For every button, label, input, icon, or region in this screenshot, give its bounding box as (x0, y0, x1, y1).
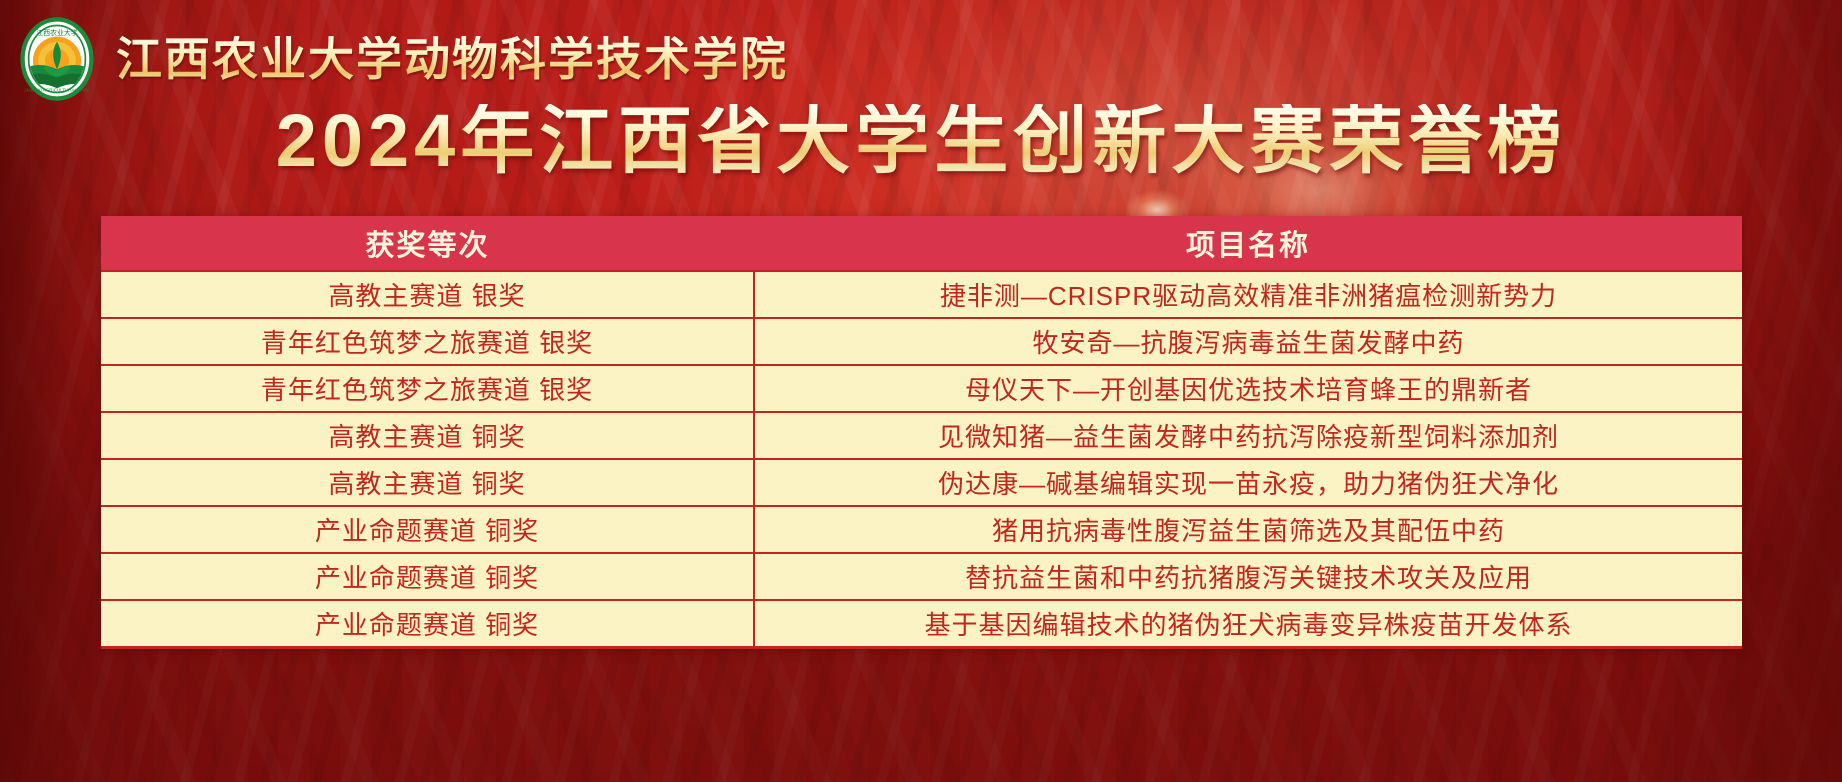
cell-project-name: 伪达康—碱基编辑实现一苗永疫，助力猪伪狂犬净化 (754, 459, 1742, 506)
cell-award-level: 高教主赛道 铜奖 (101, 459, 754, 506)
cell-award-level: 产业命题赛道 铜奖 (101, 553, 754, 600)
cell-project-name: 捷非测—CRISPR驱动高效精准非洲猪瘟检测新势力 (754, 271, 1742, 318)
cell-award-level: 青年红色筑梦之旅赛道 银奖 (101, 318, 754, 365)
cell-project-name: 见微知猪—益生菌发酵中药抗泻除疫新型饲料添加剂 (754, 412, 1742, 459)
honor-table-body: 高教主赛道 银奖捷非测—CRISPR驱动高效精准非洲猪瘟检测新势力青年红色筑梦之… (101, 271, 1742, 648)
column-header-project: 项目名称 (754, 216, 1742, 271)
cell-project-name: 牧安奇—抗腹泻病毒益生菌发酵中药 (754, 318, 1742, 365)
table-row: 产业命题赛道 铜奖替抗益生菌和中药抗猪腹泻关键技术攻关及应用 (101, 553, 1742, 600)
table-row: 青年红色筑梦之旅赛道 银奖牧安奇—抗腹泻病毒益生菌发酵中药 (101, 318, 1742, 365)
table-row: 产业命题赛道 铜奖基于基因编辑技术的猪伪狂犬病毒变异株疫苗开发体系 (101, 600, 1742, 648)
svg-text:江西农业大学: 江西农业大学 (36, 28, 77, 37)
honor-table-container: 获奖等次 项目名称 高教主赛道 银奖捷非测—CRISPR驱动高效精准非洲猪瘟检测… (101, 216, 1742, 649)
honor-roll-poster: 江西农业大学 JIANGXI AGRICULTURAL UNIV. 江西农业大学… (0, 0, 1842, 782)
college-name: 江西农业大学动物科学技术学院 (116, 36, 788, 82)
cell-award-level: 高教主赛道 铜奖 (101, 412, 754, 459)
cell-award-level: 产业命题赛道 铜奖 (101, 506, 754, 553)
column-header-award: 获奖等次 (101, 216, 754, 271)
table-header-row: 获奖等次 项目名称 (101, 216, 1742, 271)
honor-table: 获奖等次 项目名称 高教主赛道 银奖捷非测—CRISPR驱动高效精准非洲猪瘟检测… (101, 216, 1742, 649)
cell-award-level: 青年红色筑梦之旅赛道 银奖 (101, 365, 754, 412)
jxau-emblem-icon: 江西农业大学 JIANGXI AGRICULTURAL UNIV. (14, 16, 100, 102)
brand-header: 江西农业大学 JIANGXI AGRICULTURAL UNIV. 江西农业大学… (14, 16, 788, 102)
svg-text:JIANGXI AGRICULTURAL UNIV.: JIANGXI AGRICULTURAL UNIV. (24, 88, 89, 93)
cell-award-level: 产业命题赛道 铜奖 (101, 600, 754, 648)
cell-project-name: 替抗益生菌和中药抗猪腹泻关键技术攻关及应用 (754, 553, 1742, 600)
table-row: 产业命题赛道 铜奖猪用抗病毒性腹泻益生菌筛选及其配伍中药 (101, 506, 1742, 553)
table-row: 青年红色筑梦之旅赛道 银奖母仪天下—开创基因优选技术培育蜂王的鼎新者 (101, 365, 1742, 412)
cell-project-name: 猪用抗病毒性腹泻益生菌筛选及其配伍中药 (754, 506, 1742, 553)
page-title: 2024年江西省大学生创新大赛荣誉榜 (0, 104, 1842, 178)
table-row: 高教主赛道 银奖捷非测—CRISPR驱动高效精准非洲猪瘟检测新势力 (101, 271, 1742, 318)
table-row: 高教主赛道 铜奖伪达康—碱基编辑实现一苗永疫，助力猪伪狂犬净化 (101, 459, 1742, 506)
cell-award-level: 高教主赛道 银奖 (101, 271, 754, 318)
cell-project-name: 基于基因编辑技术的猪伪狂犬病毒变异株疫苗开发体系 (754, 600, 1742, 648)
table-row: 高教主赛道 铜奖见微知猪—益生菌发酵中药抗泻除疫新型饲料添加剂 (101, 412, 1742, 459)
cell-project-name: 母仪天下—开创基因优选技术培育蜂王的鼎新者 (754, 365, 1742, 412)
